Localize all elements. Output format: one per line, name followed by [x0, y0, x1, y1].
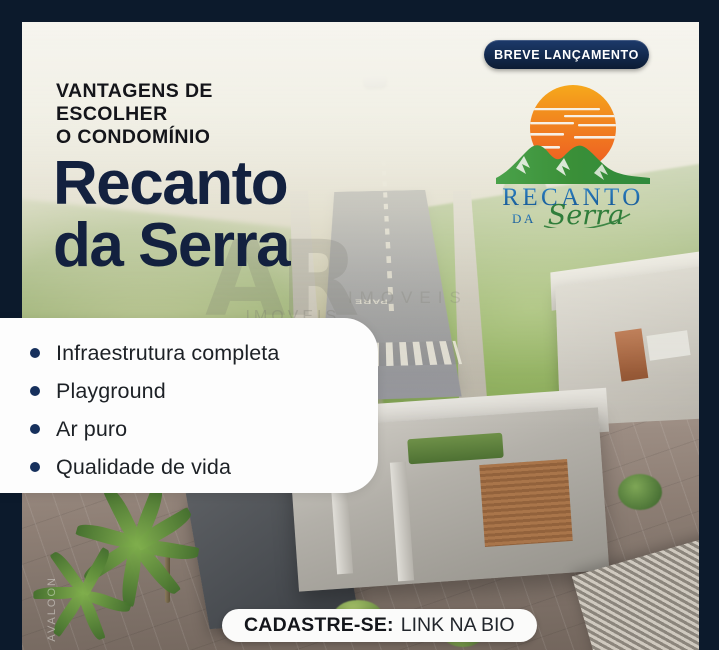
bullet-icon — [30, 462, 40, 472]
list-item-label: Playground — [56, 379, 166, 404]
list-item: Ar puro — [30, 412, 279, 446]
list-item: Qualidade de vida — [30, 450, 279, 484]
title-line-2: da Serra — [53, 215, 289, 277]
bullet-icon — [30, 348, 40, 358]
mountain-icon — [496, 145, 650, 184]
agency-watermark-top: IMOVEIS — [348, 288, 468, 308]
headline-kicker: VANTAGENS DE ESCOLHER O CONDOMÍNIO — [56, 80, 213, 149]
status-badge: BREVE LANÇAMENTO — [484, 40, 649, 69]
page-title: Recanto da Serra — [53, 153, 289, 277]
title-line-1: Recanto — [53, 153, 289, 215]
kicker-line-2: ESCOLHER — [56, 103, 213, 126]
benefits-card: Infraestrutura completa Playground Ar pu… — [0, 318, 378, 493]
status-badge-label: BREVE LANÇAMENTO — [494, 48, 639, 62]
list-item: Playground — [30, 374, 279, 408]
logo-name-da: DA — [512, 211, 536, 226]
brand-logo: RECANTO DA Serra — [478, 76, 668, 228]
list-item: Infraestrutura completa — [30, 336, 279, 370]
benefits-list: Infraestrutura completa Playground Ar pu… — [30, 336, 279, 488]
bullet-icon — [30, 386, 40, 396]
cta-banner[interactable]: CADASTRE-SE: LINK NA BIO — [222, 609, 537, 642]
logo-name-script: Serra — [548, 200, 624, 228]
kicker-line-1: VANTAGENS DE — [56, 80, 213, 103]
cta-label-rest: LINK NA BIO — [401, 614, 515, 637]
list-item-label: Ar puro — [56, 417, 127, 442]
cta-label-bold: CADASTRE-SE: — [244, 614, 394, 637]
bullet-icon — [30, 424, 40, 434]
kicker-line-3: O CONDOMÍNIO — [56, 126, 213, 149]
photographer-watermark: AVALOON — [46, 576, 58, 642]
list-item-label: Infraestrutura completa — [56, 341, 279, 366]
list-item-label: Qualidade de vida — [56, 455, 231, 480]
advertisement-creative: PARE — [0, 0, 719, 650]
